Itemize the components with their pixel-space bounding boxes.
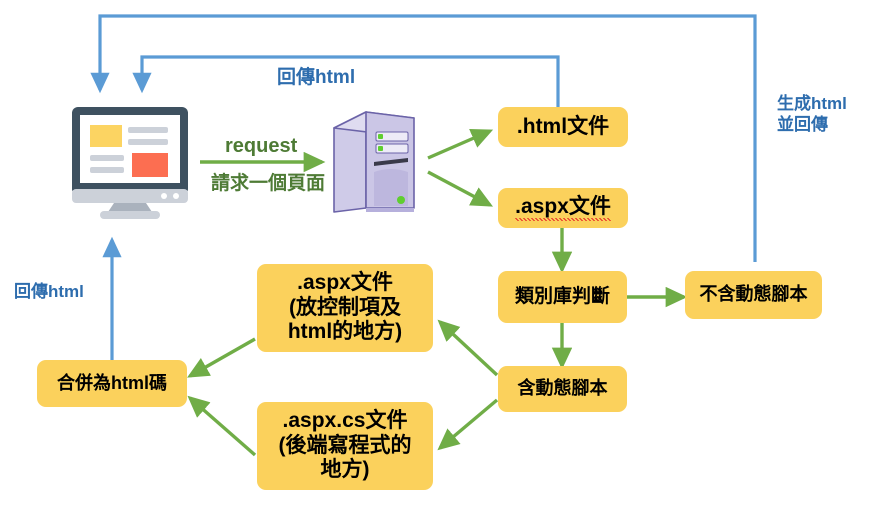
- edge-aspxcs-to-merge: [190, 398, 255, 455]
- node-label: 不含動態腳本: [700, 284, 808, 305]
- node-label: .aspx.cs文件 (後端寫程式的 地方): [279, 409, 412, 483]
- node-label: 合併為html碼: [57, 373, 167, 394]
- diagram-canvas: .html文件 .aspx文件 類別庫判斷 不含動態腳本 含動態腳本 .aspx…: [0, 0, 871, 505]
- server-tower-icon: [330, 108, 424, 218]
- node-label: .aspx文件: [515, 195, 611, 221]
- label-generate-html-return: 生成html 並回傳: [777, 93, 847, 136]
- node-aspx-cs[interactable]: .aspx.cs文件 (後端寫程式的 地方): [257, 402, 433, 490]
- edge-server-to-aspxfile: [428, 172, 490, 205]
- node-aspx-markup[interactable]: .aspx文件 (放控制項及 html的地方): [257, 264, 433, 352]
- edge-aspxmarkup-to-merge: [190, 339, 255, 376]
- node-label: .aspx文件 (放控制項及 html的地方): [288, 271, 402, 345]
- edge-server-to-htmlfile: [428, 131, 490, 158]
- node-label: 類別庫判斷: [515, 286, 610, 308]
- label-return-html-left: 回傳html: [14, 281, 84, 302]
- edge-hasscript-to-aspxcs: [440, 400, 497, 448]
- edge-noscript-to-monitor: [100, 16, 755, 262]
- label-request-en: request: [225, 134, 297, 159]
- node-no-script[interactable]: 不含動態腳本: [685, 271, 822, 319]
- desktop-monitor-icon: [62, 103, 198, 219]
- label-return-html-top: 回傳html: [277, 66, 355, 90]
- node-html-file[interactable]: .html文件: [498, 107, 628, 147]
- edge-hasscript-to-aspxmarkup: [440, 322, 497, 375]
- node-label: .html文件: [517, 115, 609, 140]
- node-class-lib[interactable]: 類別庫判斷: [498, 271, 627, 323]
- node-merge-html[interactable]: 合併為html碼: [37, 360, 187, 407]
- node-has-script[interactable]: 含動態腳本: [498, 366, 627, 412]
- diagram-edges: [0, 0, 871, 505]
- label-request-zh: 請求一個頁面: [211, 172, 325, 196]
- node-aspx-file[interactable]: .aspx文件: [498, 188, 628, 228]
- node-label: 含動態腳本: [518, 378, 608, 399]
